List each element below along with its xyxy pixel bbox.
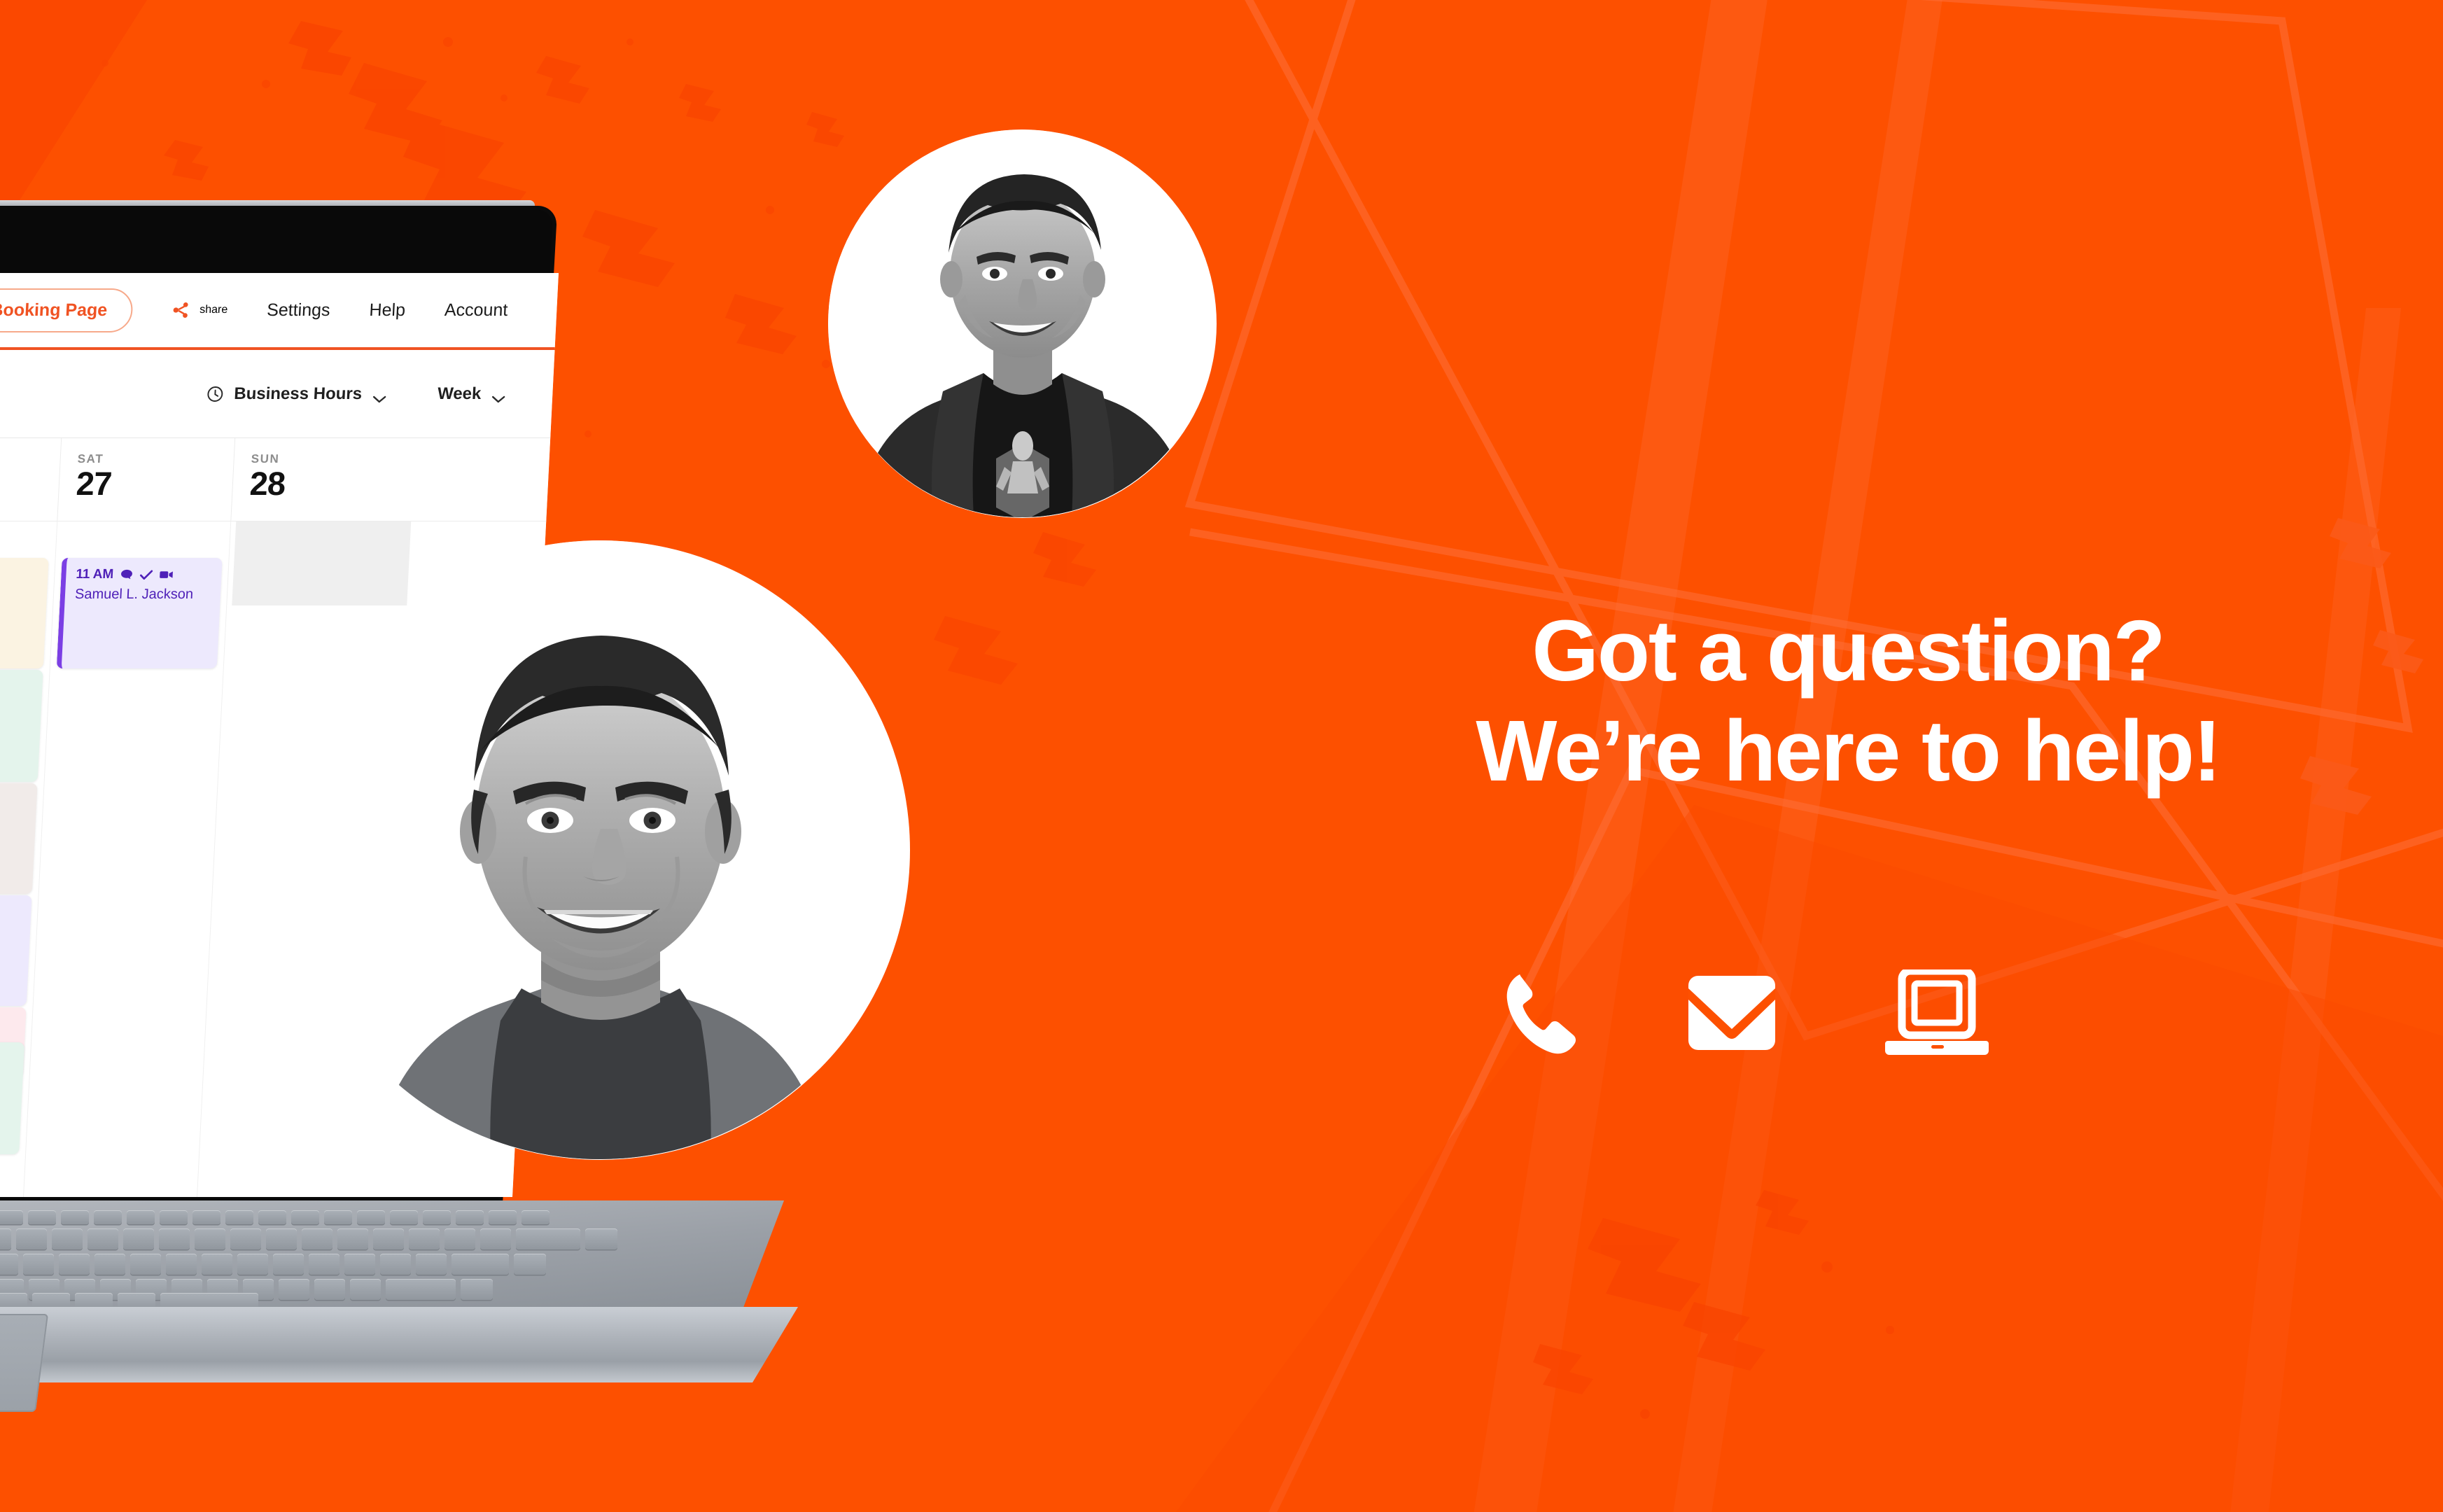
- calendar-day-header[interactable]: SAT27: [57, 438, 234, 521]
- page-title: Got a question? We’re here to help!: [1295, 602, 2401, 801]
- calendar-day-header[interactable]: FRI26: [0, 438, 61, 521]
- calendar-day-headers: THU25FRI26SAT27SUN28: [0, 437, 550, 521]
- event-client-name: Katey Sagal: [0, 587, 38, 603]
- day-number-label: 26: [0, 466, 59, 500]
- support-agent-avatar-top: [828, 129, 1217, 518]
- event-time: 11 AM: [76, 567, 114, 582]
- contact-options: [1295, 969, 2198, 1056]
- keyboard-row-function[interactable]: [0, 1210, 549, 1224]
- laptop-base: [0, 1307, 798, 1382]
- calendar-event[interactable]: 11 AM Katey Sagal: [0, 558, 49, 668]
- event-client-name: Samuel L. Jackson: [74, 587, 211, 603]
- clock-icon: [206, 385, 225, 403]
- business-hours-label: Business Hours: [234, 384, 363, 404]
- keyboard-row-qwerty[interactable]: [0, 1254, 546, 1275]
- envelope-icon[interactable]: [1688, 976, 1775, 1050]
- calendar-event[interactable]: 1 PM Eddie Vedder: [0, 783, 38, 894]
- app-topbar: Online Booking Page share Settings Help …: [0, 273, 559, 350]
- calendar-event[interactable]: 3:30 PM Erik Salamander: [0, 1042, 24, 1154]
- event-client-name: Anastasia: [0, 699, 32, 715]
- day-number-label: 28: [249, 466, 407, 500]
- nav-settings[interactable]: Settings: [267, 300, 331, 321]
- laptop-deck: [0, 1200, 861, 1375]
- nav-help[interactable]: Help: [369, 300, 406, 321]
- calendar-toolbar: Business Hours Week: [0, 350, 555, 437]
- nav-account[interactable]: Account: [444, 300, 508, 321]
- share-label: share: [199, 304, 228, 316]
- view-week-label: Week: [437, 384, 482, 404]
- calendar-day-column[interactable]: 11 AM Samuel L. Jackson: [22, 521, 231, 1197]
- share-button[interactable]: share: [171, 301, 228, 319]
- headline-line-1: Got a question?: [1295, 602, 2401, 702]
- event-client-name: Eddie Vedder: [0, 812, 27, 828]
- support-agent-avatar-front: [290, 540, 910, 1160]
- event-client-name: Erik Salamander: [0, 1071, 13, 1087]
- video-conference-icon: [159, 569, 173, 580]
- business-hours-dropdown[interactable]: Business Hours: [206, 384, 388, 404]
- comment-icon: [120, 569, 134, 580]
- event-client-name: Michael Jackson: [0, 924, 21, 940]
- headline-line-2: We’re here to help!: [1295, 702, 2401, 802]
- share-icon: [171, 301, 190, 319]
- keyboard-row-numbers[interactable]: [0, 1228, 617, 1249]
- portrait-man-tee: [290, 540, 910, 1160]
- chevron-down-icon: [491, 389, 507, 399]
- day-of-week-label: FRI: [0, 452, 60, 466]
- day-of-week-label: SAT: [77, 452, 234, 466]
- laptop-icon[interactable]: [1884, 969, 1990, 1056]
- phone-icon[interactable]: [1503, 970, 1580, 1056]
- online-booking-page-button[interactable]: Online Booking Page: [0, 288, 134, 332]
- day-number-label: 27: [76, 466, 233, 500]
- promo-panel: Got a question? We’re here to help!: [1253, 0, 2443, 1512]
- calendar-event[interactable]: 2 PM Michael Jackson: [0, 895, 32, 1006]
- day-of-week-label: SUN: [251, 452, 407, 466]
- calendar-event[interactable]: 11 AM Samuel L. Jackson: [57, 558, 223, 668]
- calendar-event[interactable]: 12 PM Anastasia: [0, 670, 43, 782]
- calendar-day-header[interactable]: SUN28: [230, 438, 408, 521]
- chevron-down-icon: [372, 389, 388, 399]
- confirmed-check-icon: [139, 569, 153, 580]
- portrait-man-blazer: [828, 129, 1217, 518]
- view-week-dropdown[interactable]: Week: [437, 384, 507, 404]
